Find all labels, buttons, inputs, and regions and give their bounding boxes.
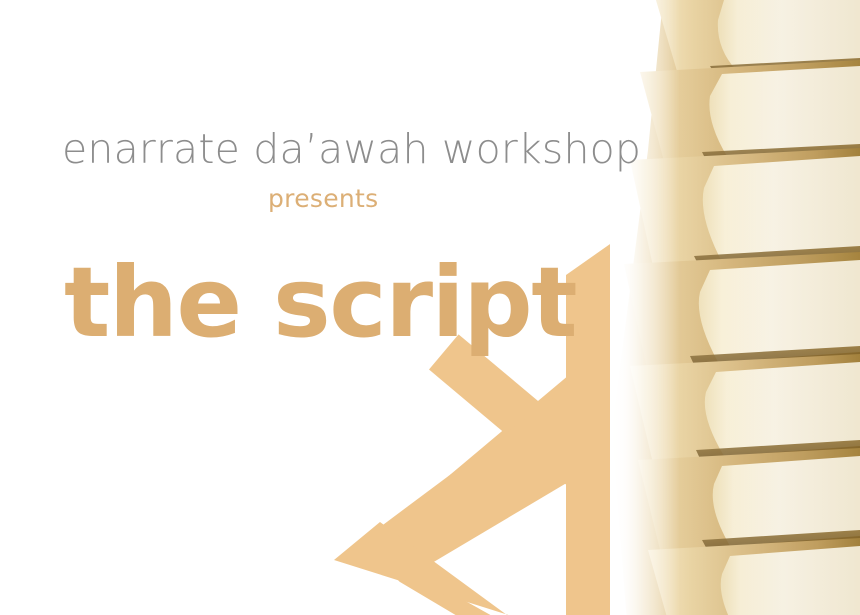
page-title: the script	[64, 252, 576, 354]
book-stack-icon	[610, 0, 860, 615]
workshop-title: enarrate da’awah workshop	[62, 129, 641, 170]
presentation-slide: enarrate da’awah workshop presents the s…	[0, 0, 860, 615]
presents-label: presents	[268, 186, 378, 211]
book-stack-image	[610, 0, 860, 615]
